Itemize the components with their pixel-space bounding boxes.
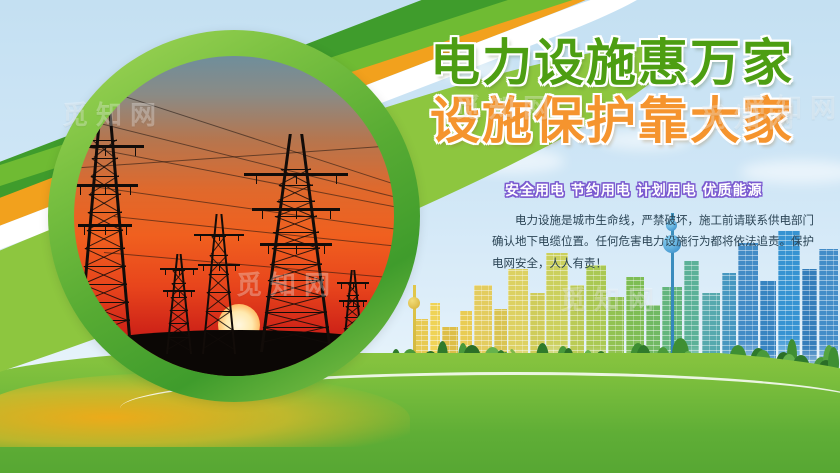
insulator-string <box>268 245 269 254</box>
tower-horizontal-brace <box>92 158 118 159</box>
tower-horizontal-brace <box>346 306 359 307</box>
insulator-string <box>84 226 85 235</box>
tower-horizontal-brace <box>88 212 122 213</box>
insulator-string <box>135 147 136 156</box>
insulator-string <box>330 210 331 219</box>
body-paragraph: 电力设施是城市生命线，严禁破坏，施工前请联系供电部门确认地下电缆位置。任何危害电… <box>492 210 814 274</box>
tower-horizontal-brace <box>210 255 228 256</box>
insulator-string <box>193 270 194 275</box>
tower-horizontal-brace <box>89 194 120 195</box>
insulator-string <box>235 266 236 271</box>
tower-lattice <box>82 284 127 303</box>
slogan-subtitle: 安全用电 节约用电 计划用电 优质能源 <box>505 180 763 200</box>
insulator-string <box>165 270 166 275</box>
insulator-string <box>341 284 342 289</box>
tower-horizontal-brace <box>268 280 324 281</box>
tower-horizontal-brace <box>172 283 186 284</box>
tower-horizontal-brace <box>204 330 234 331</box>
tower-lattice <box>206 292 230 311</box>
tower-horizontal-brace <box>87 230 124 231</box>
tower-horizontal-brace <box>168 337 191 338</box>
headline-line-2: 设施保护靠大家 <box>430 96 830 146</box>
tower-horizontal-brace <box>265 312 328 313</box>
transmission-tower <box>202 214 236 354</box>
insulator-string <box>365 284 366 289</box>
tower-lattice <box>263 327 330 344</box>
tower-horizontal-brace <box>81 302 128 303</box>
headline-line-1: 电力设施惠万家 <box>430 38 830 88</box>
insulator-string <box>126 226 127 235</box>
transmission-tower <box>78 100 132 348</box>
insulator-string <box>203 266 204 271</box>
transmission-tower <box>342 270 364 354</box>
insulator-string <box>324 245 325 254</box>
left-tower-ball <box>408 297 420 309</box>
transmission-tower <box>166 254 192 354</box>
tower-horizontal-brace <box>207 292 231 293</box>
power-conductor-wire <box>114 216 394 248</box>
tower-lattice <box>167 337 190 351</box>
tower-lattice <box>205 311 232 330</box>
tower-horizontal-brace <box>206 311 233 312</box>
tower-horizontal-brace <box>277 201 315 202</box>
tower-horizontal-brace <box>93 140 116 141</box>
tower-horizontal-brace <box>345 317 360 318</box>
tower-horizontal-brace <box>209 274 230 275</box>
tower-horizontal-brace <box>169 323 190 324</box>
tower-horizontal-brace <box>171 297 187 298</box>
insulator-string <box>363 302 364 307</box>
powerline-sunset-photo <box>74 56 394 376</box>
tower-horizontal-brace <box>170 310 188 311</box>
tower-horizontal-brace <box>266 296 325 297</box>
poster-canvas: 电力设施惠万家 设施保护靠大家 安全用电 节约用电 计划用电 优质能源 电力设施… <box>0 0 840 473</box>
insulator-string <box>238 236 239 241</box>
insulator-string <box>75 147 76 156</box>
insulator-string <box>296 245 297 254</box>
insulator-string <box>167 292 168 297</box>
insulator-string <box>191 292 192 297</box>
tower-horizontal-brace <box>91 176 119 177</box>
tower-horizontal-brace <box>84 266 126 267</box>
headline-block: 电力设施惠万家 设施保护靠大家 <box>430 38 830 146</box>
tower-horizontal-brace <box>348 283 357 284</box>
insulator-string <box>343 302 344 307</box>
tower-horizontal-brace <box>212 236 227 237</box>
photo-ring-border <box>48 30 420 402</box>
tower-horizontal-brace <box>80 320 130 321</box>
tower-horizontal-brace <box>347 295 358 296</box>
tower-horizontal-brace <box>173 270 184 271</box>
insulator-string <box>200 236 201 241</box>
tower-horizontal-brace <box>263 327 329 328</box>
tower-lattice <box>80 320 130 339</box>
tower-horizontal-brace <box>343 339 362 340</box>
tower-horizontal-brace <box>83 284 128 285</box>
tower-horizontal-brace <box>272 248 321 249</box>
tower-horizontal-brace <box>344 328 361 329</box>
tower-horizontal-brace <box>85 248 124 249</box>
insulator-string <box>262 210 263 219</box>
tower-horizontal-brace <box>270 264 322 265</box>
insulator-string <box>80 186 81 195</box>
